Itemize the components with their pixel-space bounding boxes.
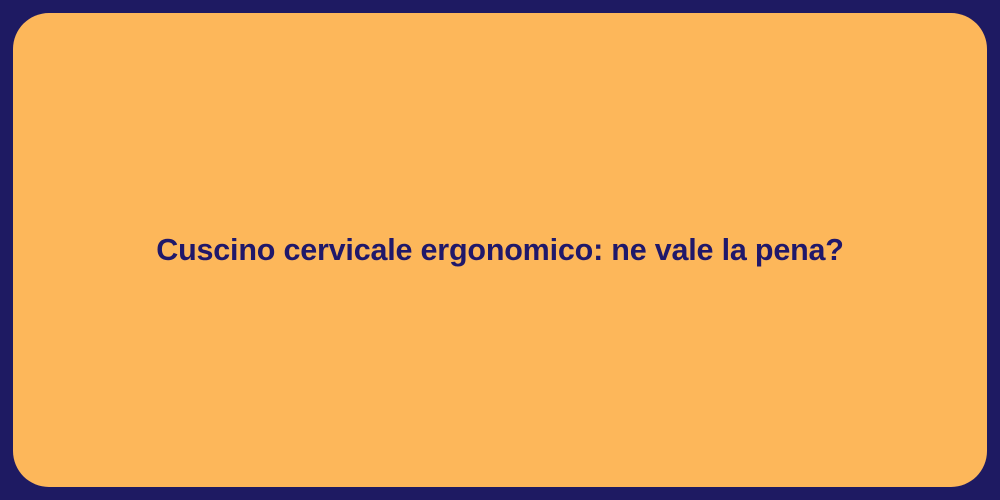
hero-card: Cuscino cervicale ergonomico: ne vale la… xyxy=(13,13,987,487)
page-root: Cuscino cervicale ergonomico: ne vale la… xyxy=(0,0,1000,500)
page-title: Cuscino cervicale ergonomico: ne vale la… xyxy=(116,231,883,269)
